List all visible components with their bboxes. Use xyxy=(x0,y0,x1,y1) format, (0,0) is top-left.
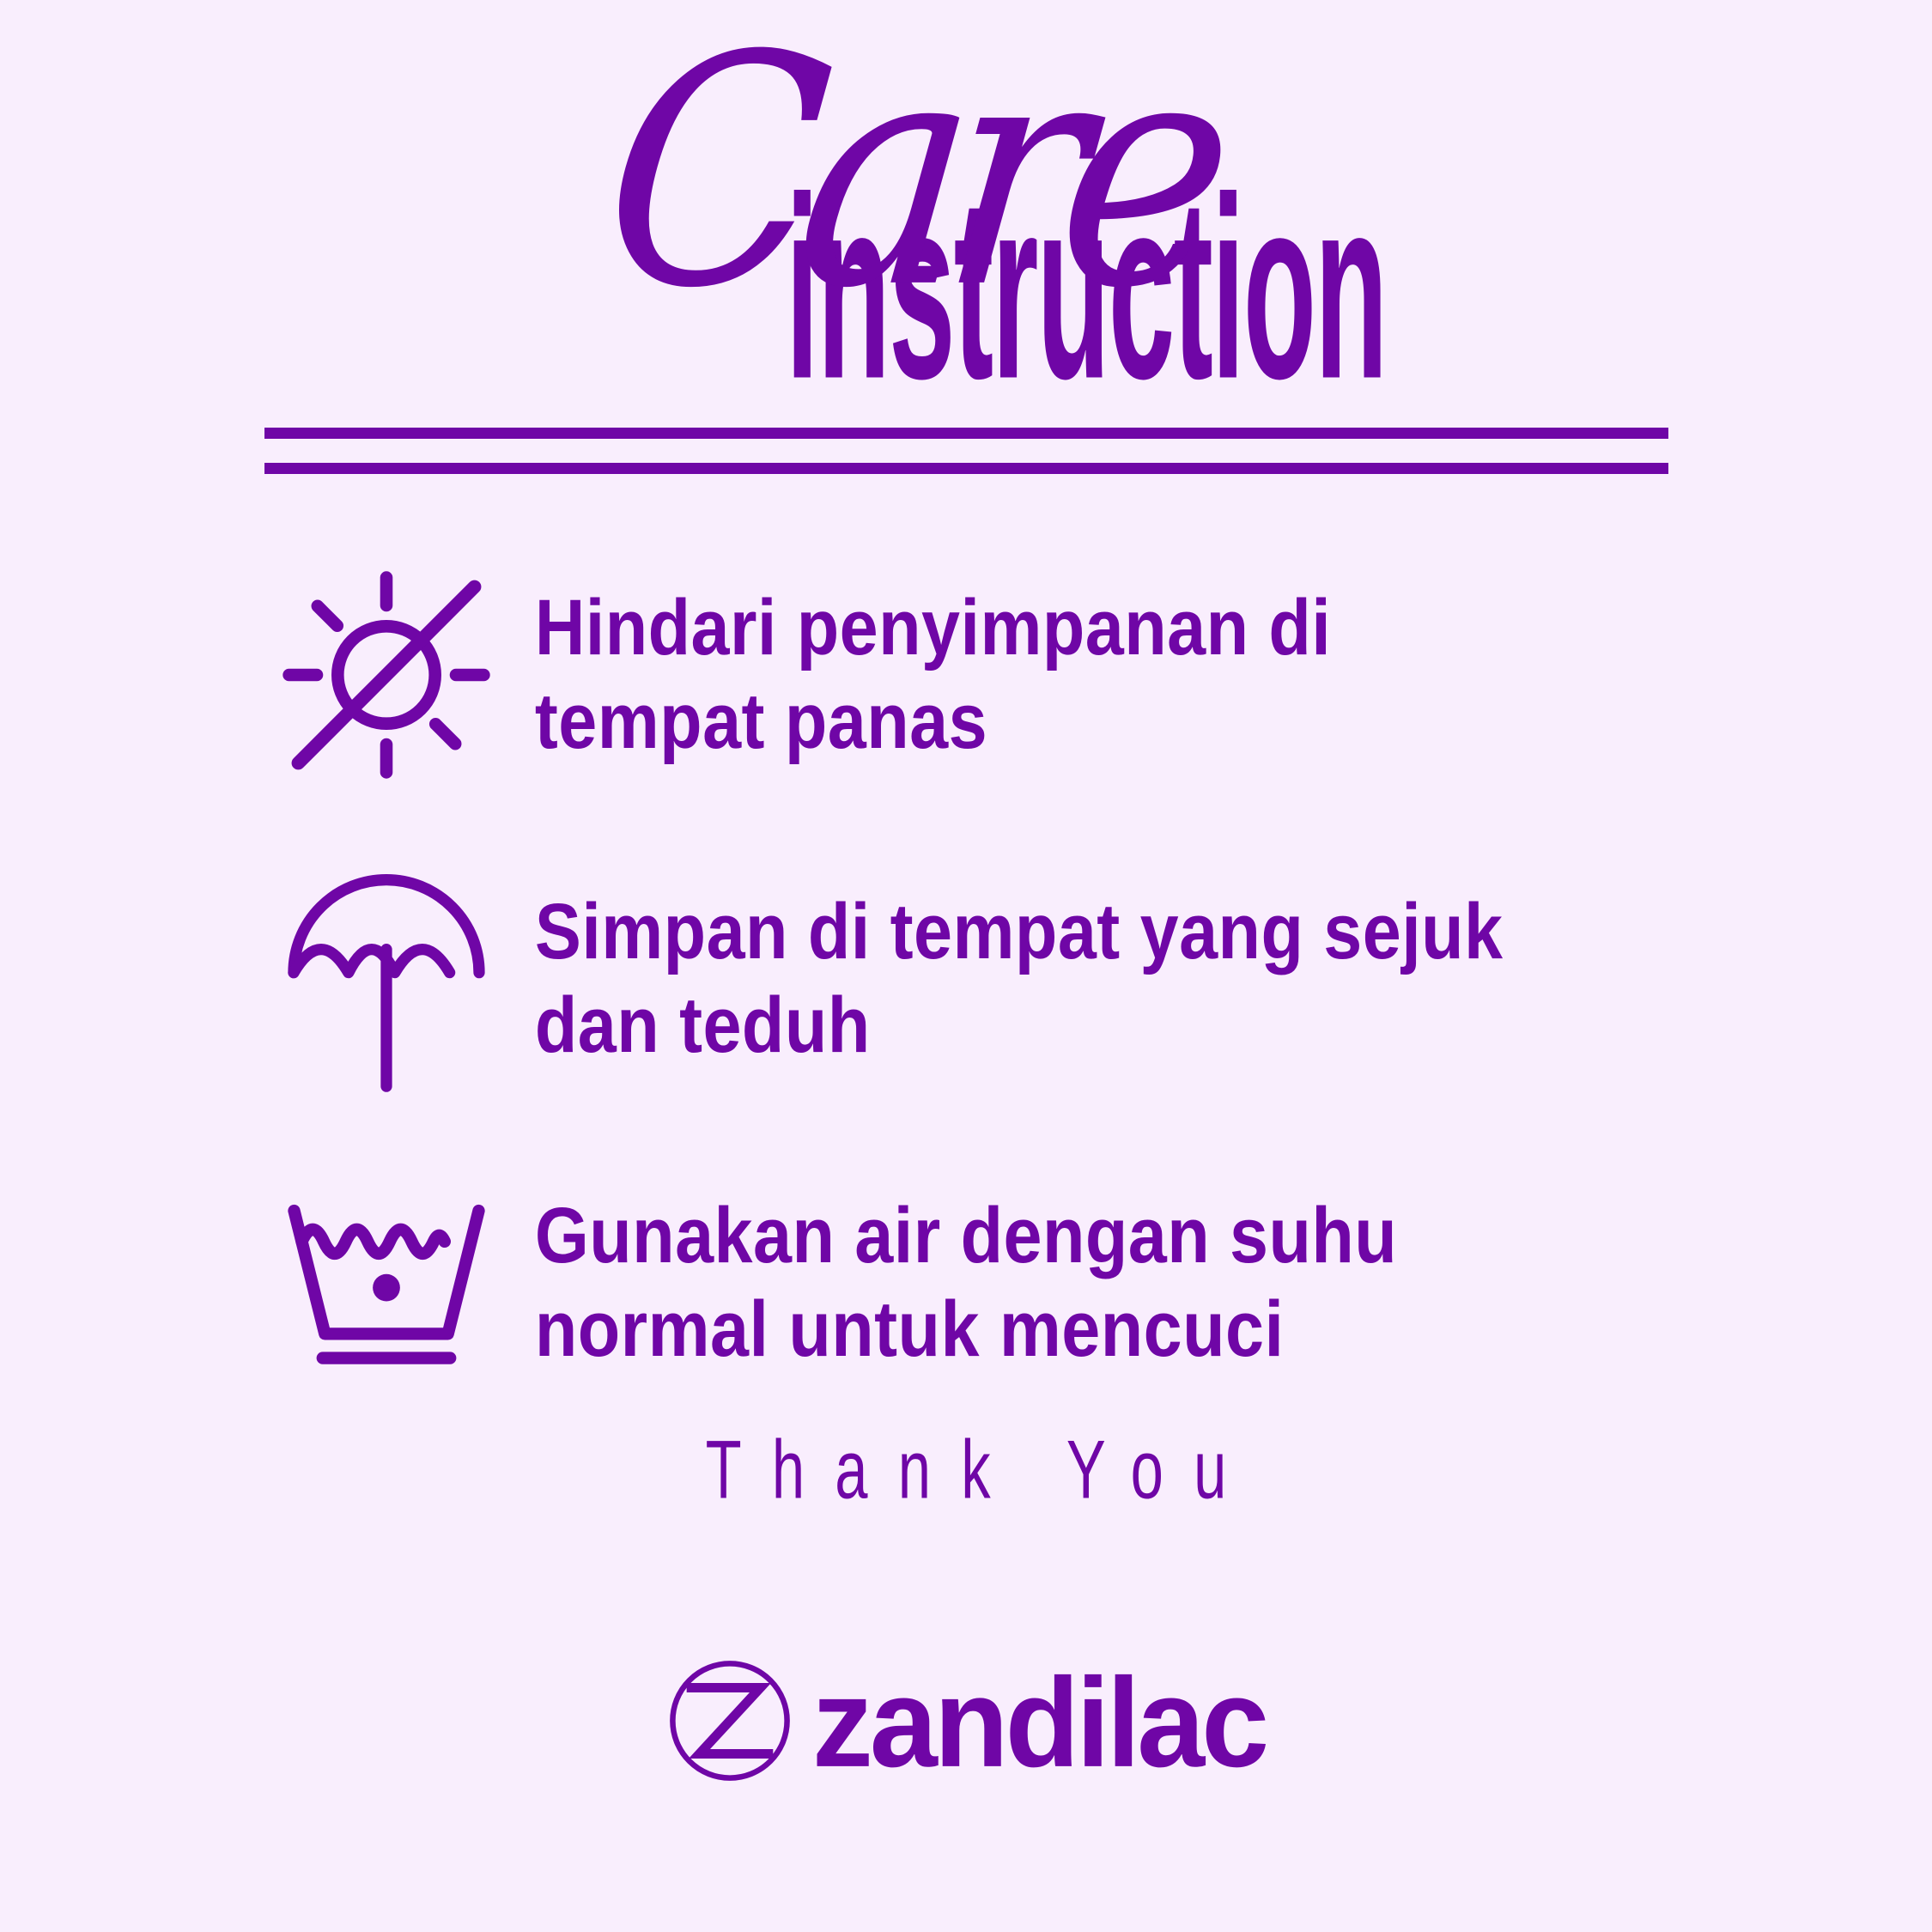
divider-rule-bottom xyxy=(264,463,1668,474)
instruction-text: Simpan di tempat yang sejuk dan teduh xyxy=(515,885,1558,1072)
instruction-text: Gunakan air dengan suhu normal untuk men… xyxy=(515,1189,1558,1376)
thank-you-text: Thank You xyxy=(193,1429,1739,1511)
wash-tub-icon xyxy=(258,1191,515,1376)
instruction-text: Hindari penyimpanan di tempat panas xyxy=(515,581,1558,768)
divider xyxy=(264,428,1668,474)
page-title: instruction Care xyxy=(0,82,1932,383)
z-circle-logo-icon xyxy=(666,1657,793,1789)
title-script-word: Care xyxy=(592,14,1225,331)
instruction-list: Hindari penyimpanan di tempat panas Simp… xyxy=(258,546,1700,1412)
umbrella-icon xyxy=(258,863,515,1095)
care-instruction-card: instruction Care xyxy=(0,0,1932,1932)
no-sun-icon xyxy=(258,559,515,791)
list-item: Gunakan air dengan suhu normal untuk men… xyxy=(258,1154,1700,1412)
brand-logo: zandilac xyxy=(0,1657,1932,1789)
list-item: Hindari penyimpanan di tempat panas xyxy=(258,546,1700,804)
brand-name: zandilac xyxy=(812,1660,1266,1787)
list-item: Simpan di tempat yang sejuk dan teduh xyxy=(258,850,1700,1108)
